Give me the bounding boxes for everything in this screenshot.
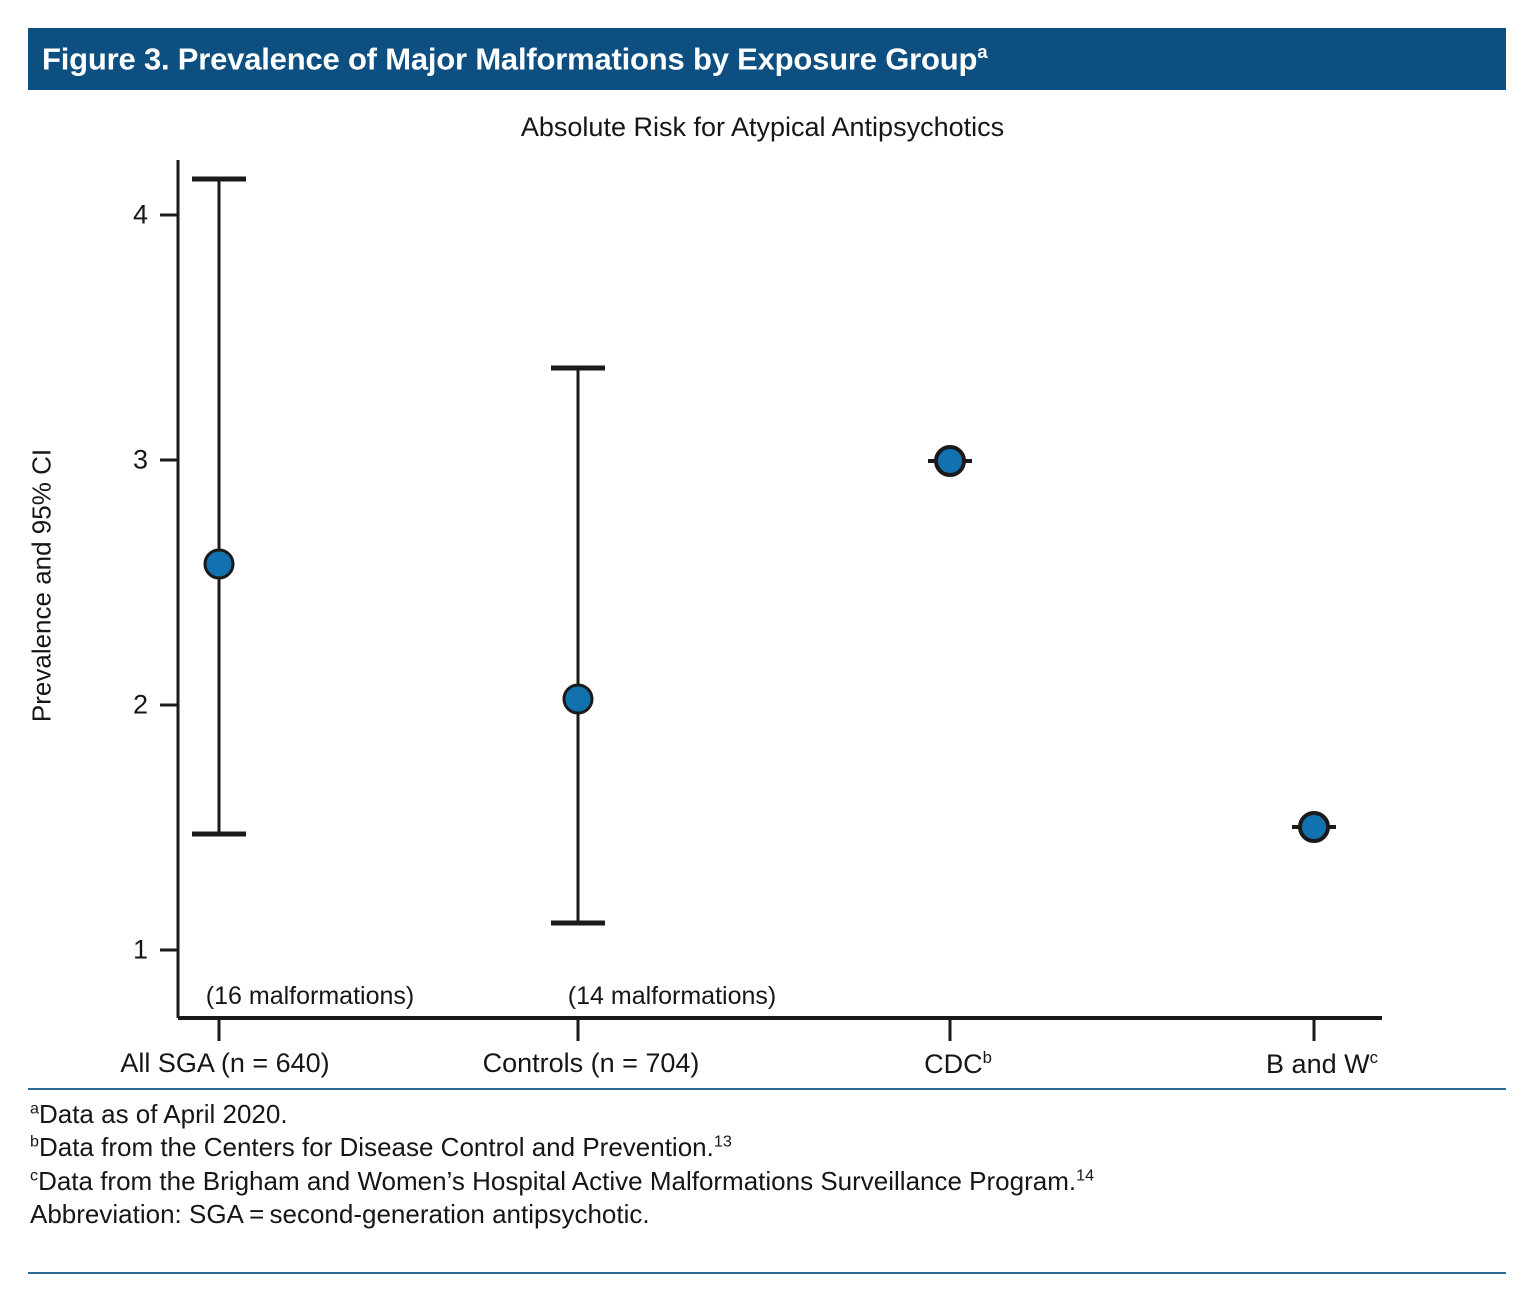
x-tick-text-b-and-w: B and W [1266, 1049, 1370, 1079]
x-tick-text-cdc: CDC [924, 1049, 983, 1079]
x-tick-label-all-sga: All SGA (n = 640) [120, 1048, 329, 1079]
footnote-b-reference: 13 [714, 1133, 732, 1151]
annotation-controls: (14 malformations) [568, 982, 776, 1011]
footnote-c-marker: c [30, 1166, 38, 1184]
y-tick-label-3: 3 [88, 445, 148, 476]
x-tick-text-all-sga: All SGA (n = 640) [120, 1048, 329, 1078]
footnote-c-reference: 14 [1076, 1166, 1094, 1184]
footnote-a-marker: a [30, 1099, 39, 1117]
footnotes-block: aData as of April 2020. bData from the C… [30, 1098, 1490, 1231]
y-axis-ticks [160, 215, 178, 950]
y-tick-label-1: 1 [88, 935, 148, 966]
annotation-all-sga: (16 malformations) [206, 982, 414, 1011]
footnote-c: cData from the Brigham and Women’s Hospi… [30, 1165, 1490, 1198]
footnote-c-text: Data from the Brigham and Women’s Hospit… [38, 1166, 1076, 1196]
y-tick-label-2: 2 [88, 690, 148, 721]
footnote-rule-top [28, 1088, 1506, 1090]
data-series-b-and-w [1292, 813, 1336, 841]
footnote-a-text: Data as of April 2020. [39, 1099, 288, 1129]
x-axis-ticks [219, 1018, 1314, 1041]
x-tick-superscript-cdc: b [983, 1048, 992, 1067]
footnote-abbreviation: Abbreviation: SGA = second-generation an… [30, 1198, 1490, 1231]
data-point-controls [564, 685, 592, 713]
data-point-all-sga [205, 550, 233, 578]
x-tick-label-controls: Controls (n = 704) [483, 1048, 700, 1079]
footnote-b-text: Data from the Centers for Disease Contro… [39, 1132, 714, 1162]
data-series-controls [551, 368, 605, 923]
footnote-a: aData as of April 2020. [30, 1098, 1490, 1131]
footnote-b-marker: b [30, 1133, 39, 1151]
footnote-b: bData from the Centers for Disease Contr… [30, 1131, 1490, 1164]
data-series-cdc [928, 447, 972, 475]
data-point-b-and-w [1300, 813, 1328, 841]
footnote-rule-bottom [28, 1272, 1506, 1274]
x-tick-text-controls: Controls (n = 704) [483, 1048, 700, 1078]
figure-container: Figure 3. Prevalence of Major Malformati… [0, 0, 1525, 1292]
x-tick-label-b-and-w: B and Wc [1266, 1048, 1378, 1080]
x-tick-label-cdc: CDCb [924, 1048, 992, 1080]
data-series-all-sga [192, 179, 246, 834]
data-point-cdc [936, 447, 964, 475]
x-tick-superscript-b-and-w: c [1370, 1048, 1378, 1067]
y-tick-label-4: 4 [88, 200, 148, 231]
